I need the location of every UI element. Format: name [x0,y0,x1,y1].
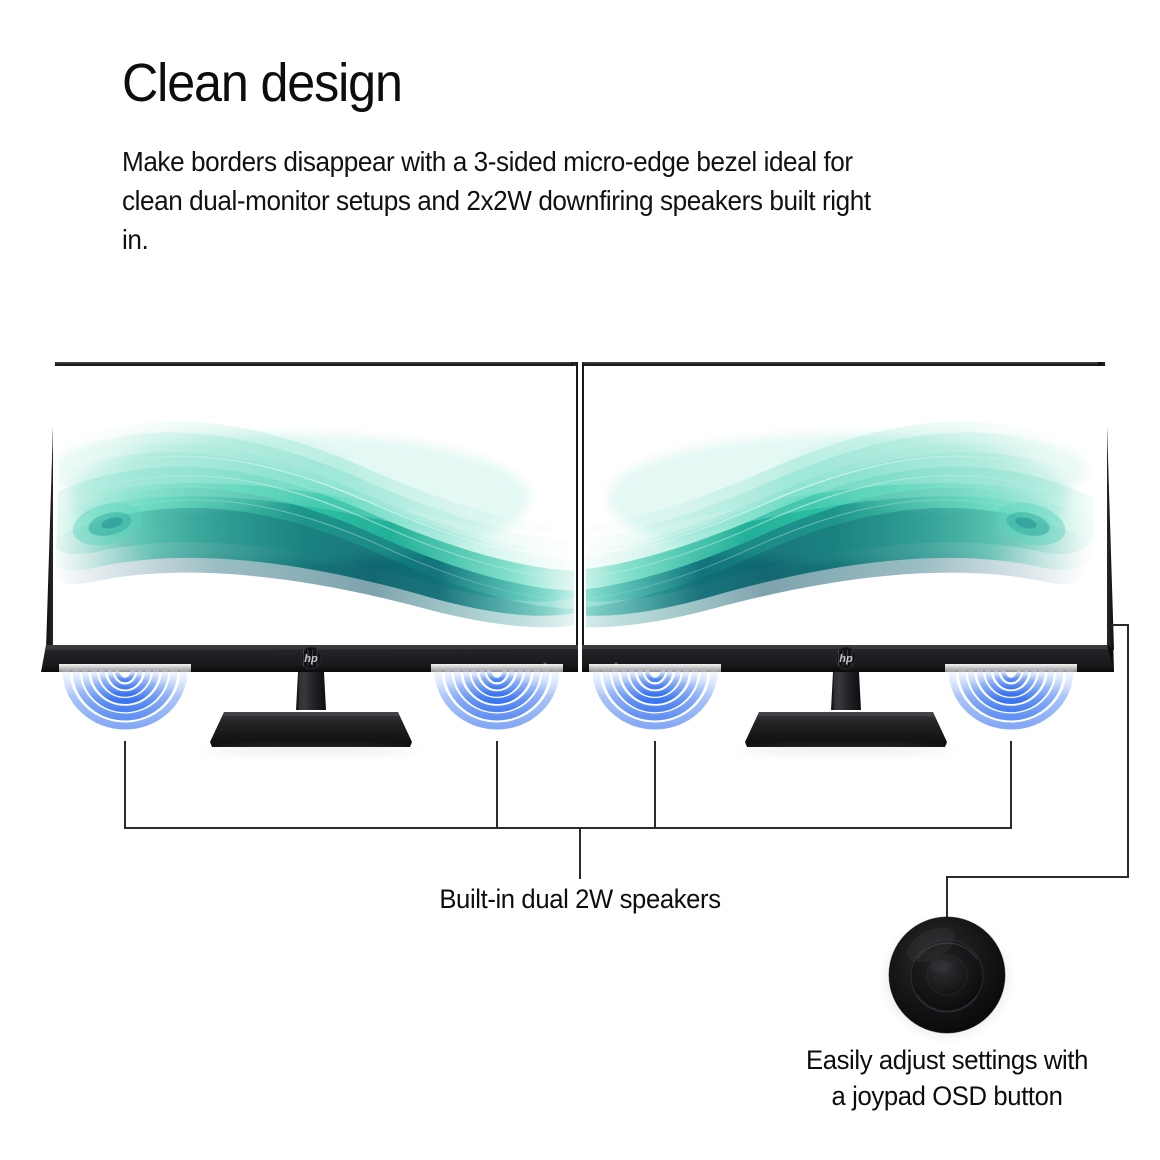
hp-logo: hp [836,647,857,670]
product-illustration: hp [0,0,1160,1160]
screen-left [40,362,610,652]
svg-text:hp: hp [839,653,853,665]
speaker-soundwave-icon [59,664,191,726]
monitor-stand-right [741,672,951,755]
monitor-stand-left [206,672,416,755]
joypad-osd-button-icon [885,917,1009,1037]
osd-callout-line2: a joypad OSD button [757,1079,1137,1115]
speakers-callout-label: Built-in dual 2W speakers [295,883,865,917]
speaker-bus-line [125,742,1011,828]
osd-callout-label: Easily adjust settings with a joypad OSD… [757,1043,1137,1114]
speaker-soundwave-icon [431,664,563,726]
speaker-soundwave-icon [945,664,1077,726]
screen-right [528,362,1115,652]
hp-logo: hp [301,647,322,670]
osd-callout-line1: Easily adjust settings with [806,1045,1088,1075]
svg-text:hp: hp [304,653,318,665]
speaker-soundwave-icon [589,664,721,726]
